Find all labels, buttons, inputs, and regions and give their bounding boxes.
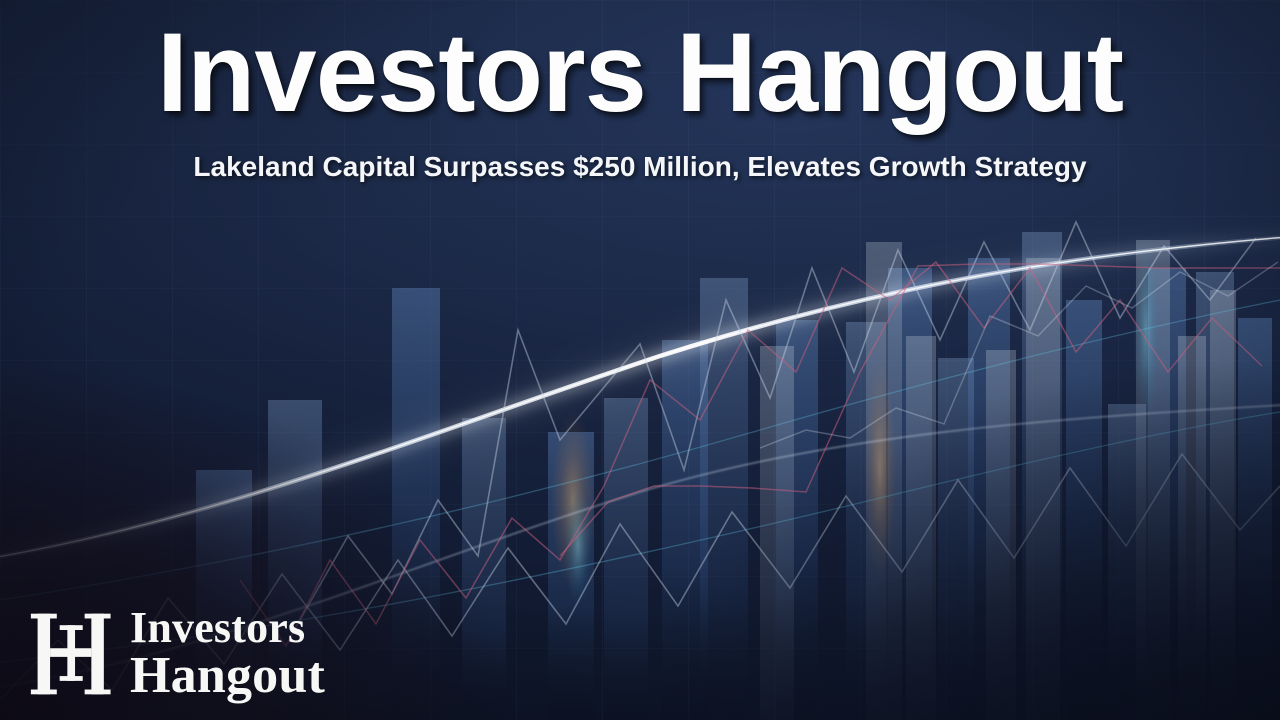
article-headline: Lakeland Capital Surpasses $250 Million,… bbox=[0, 130, 1280, 184]
hero-header: Investors Hangout Lakeland Capital Surpa… bbox=[0, 0, 1280, 184]
page-title: Investors Hangout bbox=[0, 0, 1280, 130]
hero-banner: Investors Hangout Lakeland Capital Surpa… bbox=[0, 0, 1280, 720]
logo-line-hangout: Hangout bbox=[130, 651, 325, 701]
site-logo[interactable]: Investors Hangout bbox=[28, 606, 325, 702]
logo-line-investors: Investors bbox=[130, 607, 325, 649]
monogram-ih-icon bbox=[28, 606, 124, 702]
logo-wordmark: Investors Hangout bbox=[130, 607, 325, 700]
